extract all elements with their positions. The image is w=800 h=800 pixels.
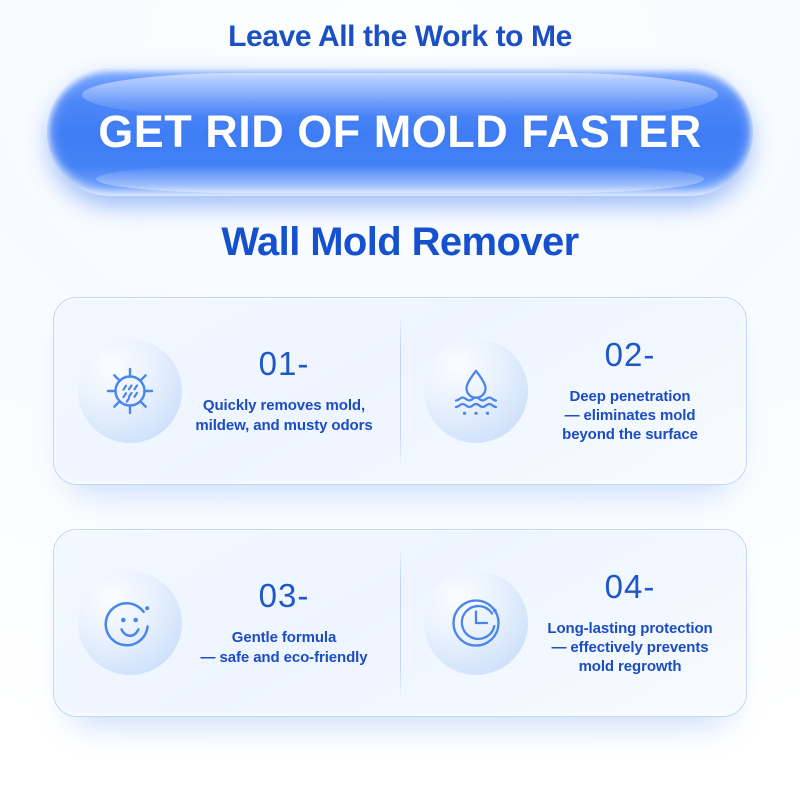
feature-number: 03-	[188, 579, 380, 612]
icon-disc	[78, 571, 182, 675]
banner-pill-label: GET RID OF MOLD FASTER	[98, 106, 702, 158]
feature-item-03: 03- Gentle formula — safe and eco-friend…	[54, 530, 400, 716]
feature-text-block: 03- Gentle formula — safe and eco-friend…	[182, 579, 394, 666]
feature-card-list: 01- Quickly removes mold, mildew, and mu…	[0, 297, 800, 717]
product-feature-poster: Leave All the Work to Me GET RID OF MOLD…	[0, 0, 800, 800]
icon-disc	[424, 339, 528, 443]
feature-card-row-1: 01- Quickly removes mold, mildew, and mu…	[53, 297, 747, 485]
feature-description: Deep penetration — eliminates mold beyon…	[534, 387, 726, 445]
feature-text-block: 02- Deep penetration — eliminates mold b…	[528, 338, 740, 445]
feature-card-row-2: 03- Gentle formula — safe and eco-friend…	[53, 529, 747, 717]
smiley-face-icon	[102, 595, 158, 651]
banner-pill: GET RID OF MOLD FASTER	[47, 68, 753, 196]
germ-icon	[102, 363, 158, 419]
banner-pill-body: GET RID OF MOLD FASTER	[47, 68, 753, 196]
feature-description: Gentle formula — safe and eco-friendly	[188, 628, 380, 666]
water-droplet-icon	[448, 363, 504, 419]
feature-description: Long-lasting protection — effectively pr…	[534, 619, 726, 677]
feature-item-02: 02- Deep penetration — eliminates mold b…	[400, 298, 746, 484]
feature-text-block: 04- Long-lasting protection — effectivel…	[528, 570, 740, 677]
icon-disc	[424, 571, 528, 675]
icon-disc	[78, 339, 182, 443]
page-title: Wall Mold Remover	[0, 220, 800, 265]
feature-description: Quickly removes mold, mildew, and musty …	[188, 396, 380, 434]
feature-text-block: 01- Quickly removes mold, mildew, and mu…	[182, 347, 394, 434]
feature-item-04: 04- Long-lasting protection — effectivel…	[400, 530, 746, 716]
feature-number: 04-	[534, 570, 726, 603]
feature-number: 01-	[188, 347, 380, 380]
clock-icon	[448, 595, 504, 651]
card-surface: 01- Quickly removes mold, mildew, and mu…	[53, 297, 747, 485]
feature-number: 02-	[534, 338, 726, 371]
card-surface: 03- Gentle formula — safe and eco-friend…	[53, 529, 747, 717]
eyebrow-headline: Leave All the Work to Me	[0, 0, 800, 53]
feature-item-01: 01- Quickly removes mold, mildew, and mu…	[54, 298, 400, 484]
